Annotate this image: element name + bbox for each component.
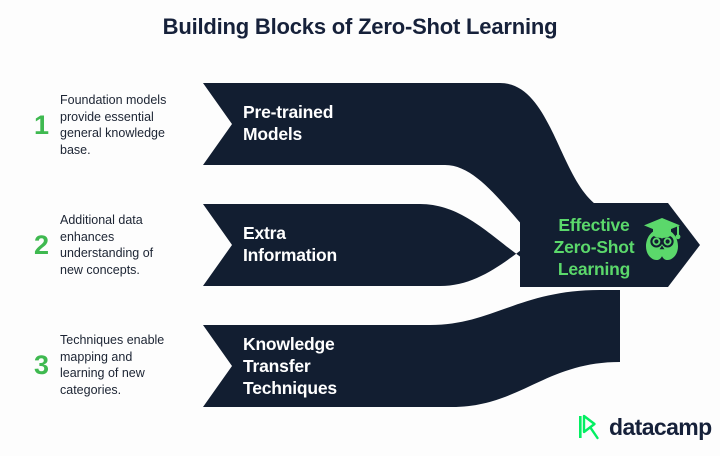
- step-3: 3 Techniques enable mapping and learning…: [34, 332, 178, 398]
- step-2: 2 Additional data enhances understanding…: [34, 212, 178, 278]
- step-number-3: 3: [34, 352, 60, 379]
- step-description-1: Foundation models provide essential gene…: [60, 92, 178, 158]
- step-1: 1 Foundation models provide essential ge…: [34, 92, 178, 158]
- band-label-extra-information: Extra Information: [243, 222, 337, 266]
- owl-graduate-icon: [641, 216, 683, 262]
- infographic-canvas: Building Blocks of Zero-Shot Learning 1 …: [0, 0, 720, 456]
- step-number-2: 2: [34, 232, 60, 259]
- band-label-line: Techniques: [243, 377, 337, 399]
- band-label-line: Extra: [243, 222, 337, 244]
- step-description-2: Additional data enhances understanding o…: [60, 212, 178, 278]
- step-number-1: 1: [34, 112, 60, 139]
- band-label-line: Knowledge: [243, 333, 337, 355]
- datacamp-logo: datacamp: [578, 414, 712, 440]
- band-label-pretrained-models: Pre-trained Models: [243, 101, 333, 145]
- result-label: Effective Zero-Shot Learning: [545, 214, 643, 280]
- datacamp-logo-mark-icon: [578, 414, 602, 440]
- band-label-knowledge-transfer: Knowledge Transfer Techniques: [243, 333, 337, 399]
- datacamp-wordmark: datacamp: [609, 416, 712, 439]
- result-label-line: Learning: [545, 258, 643, 280]
- band-label-line: Models: [243, 123, 333, 145]
- result-label-line: Zero-Shot: [545, 236, 643, 258]
- band-label-line: Information: [243, 244, 337, 266]
- band-label-line: Transfer: [243, 355, 337, 377]
- band-label-line: Pre-trained: [243, 101, 333, 123]
- step-description-3: Techniques enable mapping and learning o…: [60, 332, 178, 398]
- result-label-line: Effective: [545, 214, 643, 236]
